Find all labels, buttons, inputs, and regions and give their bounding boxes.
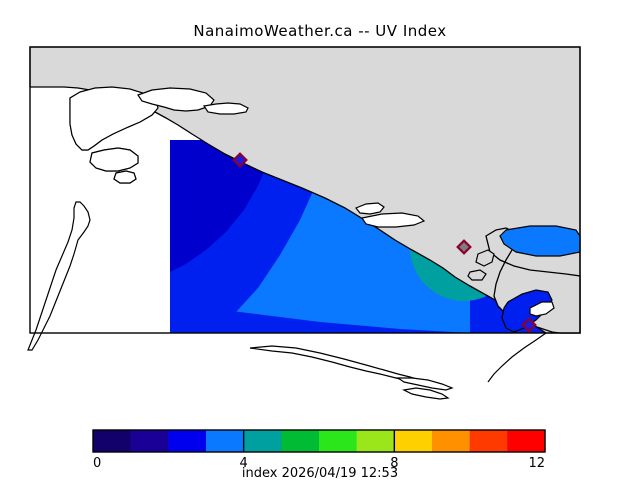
colorbar-swatch-5[interactable] xyxy=(281,430,319,452)
colorbar-swatch-2[interactable] xyxy=(168,430,206,452)
colorbar-swatch-11[interactable] xyxy=(507,430,545,452)
colorbar-swatch-1[interactable] xyxy=(131,430,169,452)
inlet-mid-left-overlay xyxy=(90,148,138,171)
colorbar-label-12: 12 xyxy=(528,456,545,471)
colorbar-svg[interactable]: 04812 index 2026/04/19 12:53 xyxy=(0,418,640,480)
colorbar-swatch-10[interactable] xyxy=(470,430,508,452)
colorbar-swatch-3[interactable] xyxy=(206,430,244,452)
uv-index-page: NanaimoWeather.ca -- UV Index xyxy=(0,0,640,480)
colorbar-swatch-9[interactable] xyxy=(432,430,470,452)
colorbar-swatches[interactable] xyxy=(93,430,546,452)
page-title: NanaimoWeather.ca -- UV Index xyxy=(0,22,640,40)
colorbar-container[interactable]: 04812 index 2026/04/19 12:53 xyxy=(0,418,640,480)
colorbar-swatch-0[interactable] xyxy=(93,430,131,452)
colorbar-label-0: 0 xyxy=(93,456,101,471)
colorbar-swatch-4[interactable] xyxy=(244,430,282,452)
islet-teal-b xyxy=(468,270,486,280)
colorbar-swatch-7[interactable] xyxy=(357,430,395,452)
map-container[interactable] xyxy=(0,40,640,410)
uv-index-map-svg[interactable] xyxy=(0,40,640,410)
colorbar-caption: index 2026/04/19 12:53 xyxy=(242,466,398,480)
inlet-lower-left-overlay xyxy=(114,171,136,183)
colorbar-swatch-6[interactable] xyxy=(319,430,357,452)
strait-right-overlay xyxy=(204,103,248,114)
colorbar-swatch-8[interactable] xyxy=(394,430,432,452)
